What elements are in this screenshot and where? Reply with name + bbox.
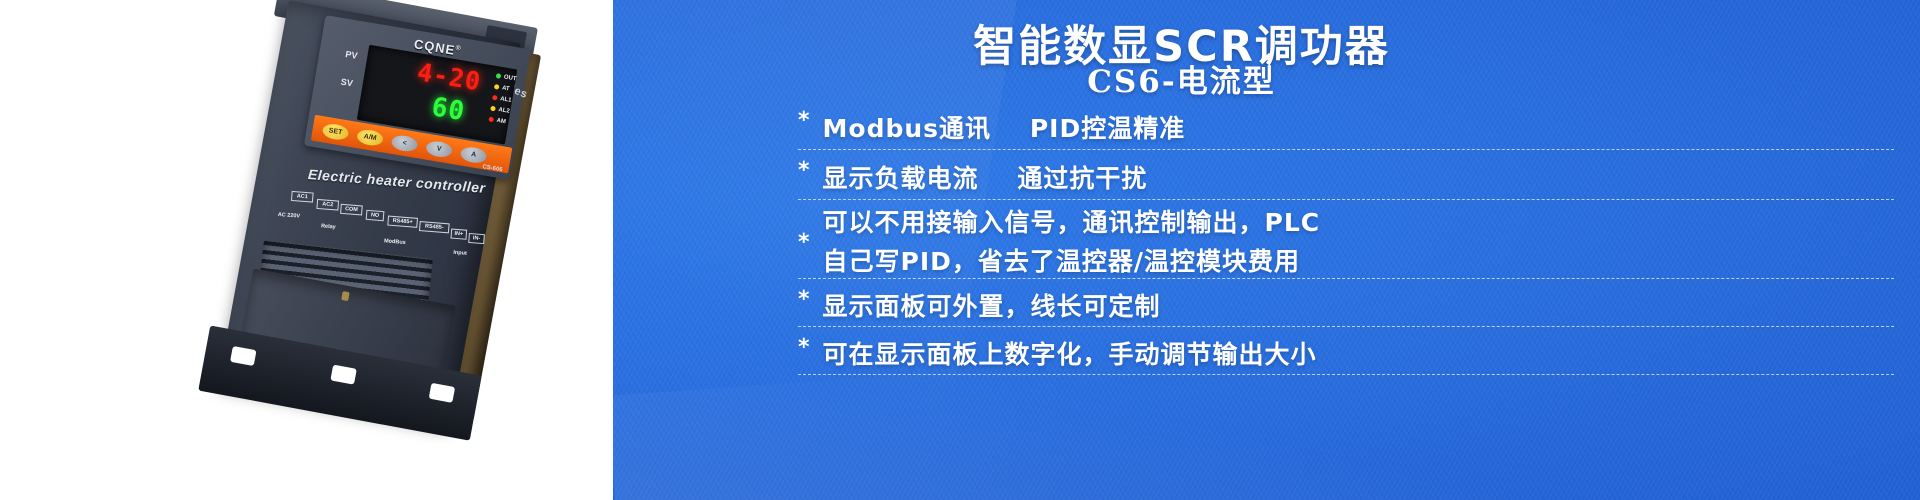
feature-item-3-line-1: 可以不用接输入信号，通讯控制输出，PLC <box>823 200 1894 239</box>
led-dot-icon <box>494 84 500 90</box>
feature-item-1-body: Modbus通讯 PID控温精准 <box>823 100 1894 145</box>
feature-list: * Modbus通讯 PID控温精准 * 显示负载电流 通过抗干扰 * 可以不用… <box>798 100 1894 375</box>
led-dot-icon <box>488 117 494 123</box>
terminal-com: COM <box>340 204 363 216</box>
auto-manual-button[interactable]: A/M <box>356 128 384 147</box>
feature-item-2: * 显示负载电流 通过抗干扰 <box>798 150 1894 200</box>
bullet-star-icon: * <box>798 150 810 182</box>
mounting-slot <box>330 365 357 385</box>
up-button[interactable]: A <box>460 145 488 164</box>
led-dot-icon <box>492 95 498 101</box>
feature-item-5-line-1: 可在显示面板上数字化，手动调节输出大小 <box>823 327 1894 371</box>
terminal-in-plus: IN+ <box>450 229 467 240</box>
terminal-rs485-minus: RS485- <box>419 221 450 233</box>
feature-item-1-line-1: Modbus通讯 PID控温精准 <box>823 100 1894 145</box>
mounting-slot <box>230 346 257 366</box>
screw-icon <box>341 291 350 301</box>
bullet-star-icon: * <box>798 327 810 359</box>
terminal-no: NO <box>366 210 385 221</box>
model-label: CS-606 <box>482 164 503 173</box>
bullet-star-icon: * <box>798 279 810 311</box>
feature-item-2-line-1: 显示负载电流 通过抗干扰 <box>823 150 1894 195</box>
feature-item-2-body: 显示负载电流 通过抗干扰 <box>823 150 1894 195</box>
page-subtitle: CS6-电流型 <box>613 56 1920 101</box>
feature-item-3: * 可以不用接输入信号，通讯控制输出，PLC 自己写PID，省去了温控器/温控模… <box>798 200 1894 279</box>
terminal-ac2: AC2 <box>316 199 339 211</box>
status-indicator-group: OUT AT AL1 AL2 <box>488 70 540 132</box>
led-dot-icon <box>490 106 496 112</box>
bullet-star-icon: * <box>798 100 810 132</box>
feature-item-3-body: 可以不用接输入信号，通讯控制输出，PLC 自己写PID，省去了温控器/温控模块费… <box>823 200 1894 278</box>
scr-power-controller-device: CQNE® CS-Series PV SV 4-20 60 OUT AT <box>194 0 566 446</box>
promo-banner: 智能数显SCR调功器 CS6-电流型 * Modbus通讯 PID控温精准 * … <box>613 0 1920 500</box>
feature-item-4-line-1: 显示面板可外置，线长可定制 <box>823 279 1894 323</box>
caption-input: Input <box>453 250 467 257</box>
bullet-star-icon: * <box>798 200 810 254</box>
led-dot-icon <box>496 73 502 79</box>
feature-item-5-body: 可在显示面板上数字化，手动调节输出大小 <box>823 327 1894 371</box>
feature-item-3-line-2: 自己写PID，省去了温控器/温控模块费用 <box>823 239 1894 278</box>
banner-image: CQNE® CS-Series PV SV 4-20 60 OUT AT <box>0 0 1920 500</box>
feature-item-5: * 可在显示面板上数字化，手动调节输出大小 <box>798 327 1894 375</box>
shift-button[interactable]: < <box>391 133 419 152</box>
sv-label: SV <box>340 77 354 89</box>
terminal-ac1: AC1 <box>291 191 314 203</box>
mounting-slot <box>429 383 456 403</box>
caption-relay: Relay <box>321 223 336 230</box>
sv-value: 60 <box>429 92 467 127</box>
down-button[interactable]: V <box>425 139 453 158</box>
pv-label: PV <box>345 49 359 61</box>
terminal-rs485-plus: RS485+ <box>387 216 418 228</box>
feature-item-4-body: 显示面板可外置，线长可定制 <box>823 279 1894 323</box>
terminal-in-minus: IN- <box>468 233 485 244</box>
caption-ac220v: AC 220V <box>278 212 301 220</box>
set-button[interactable]: SET <box>322 122 350 141</box>
caption-modbus: ModBus <box>384 238 406 246</box>
feature-item-4: * 显示面板可外置，线长可定制 <box>798 279 1894 327</box>
feature-item-1: * Modbus通讯 PID控温精准 <box>798 100 1894 150</box>
product-photo-panel: CQNE® CS-Series PV SV 4-20 60 OUT AT <box>0 0 613 500</box>
